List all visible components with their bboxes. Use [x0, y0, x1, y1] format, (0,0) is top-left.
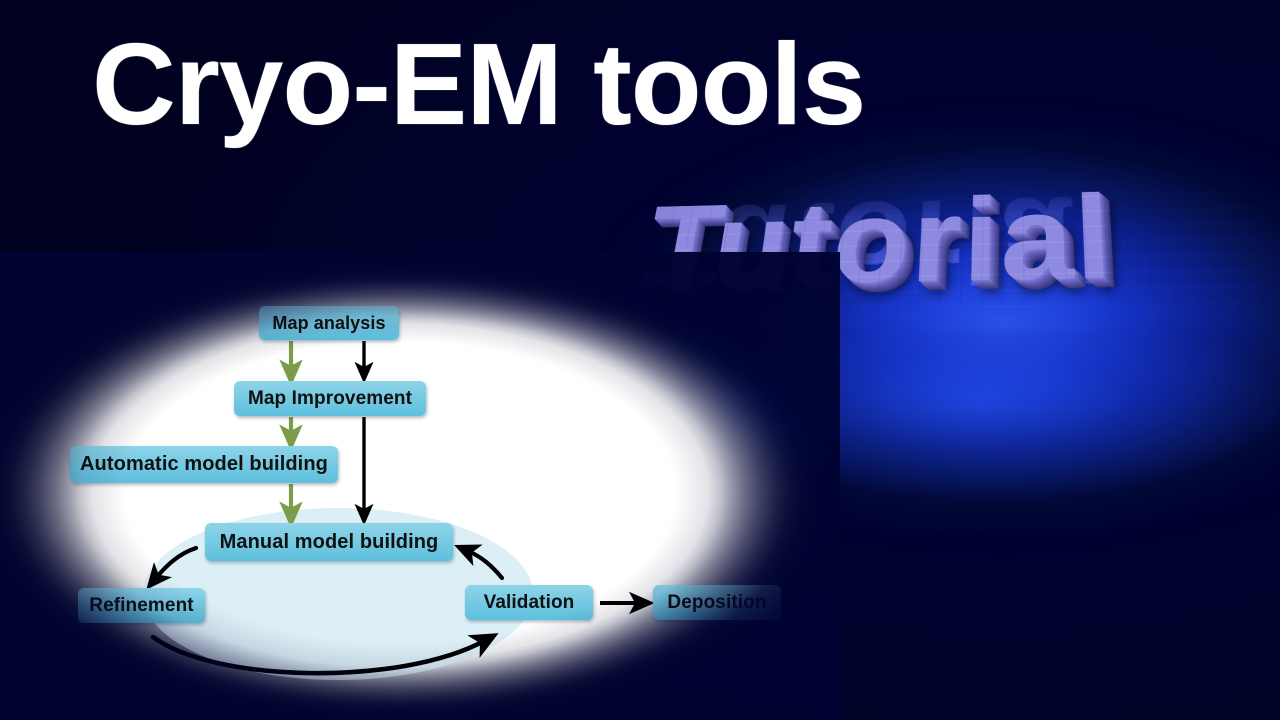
- node-manual-model-building[interactable]: Manual model building: [205, 523, 453, 561]
- node-validation[interactable]: Validation: [465, 585, 593, 620]
- node-map-improvement[interactable]: Map Improvement: [234, 381, 426, 416]
- slide-canvas: Tutorial Tutorial Cryo-EM tools: [0, 0, 1280, 720]
- node-refinement[interactable]: Refinement: [78, 588, 205, 623]
- node-automatic-model-building[interactable]: Automatic model building: [70, 446, 338, 483]
- node-map-analysis[interactable]: Map analysis: [259, 306, 399, 340]
- cryo-em-workflow-diagram: Map analysis Map Improvement Automatic m…: [0, 0, 1280, 720]
- node-deposition[interactable]: Deposition: [653, 585, 781, 620]
